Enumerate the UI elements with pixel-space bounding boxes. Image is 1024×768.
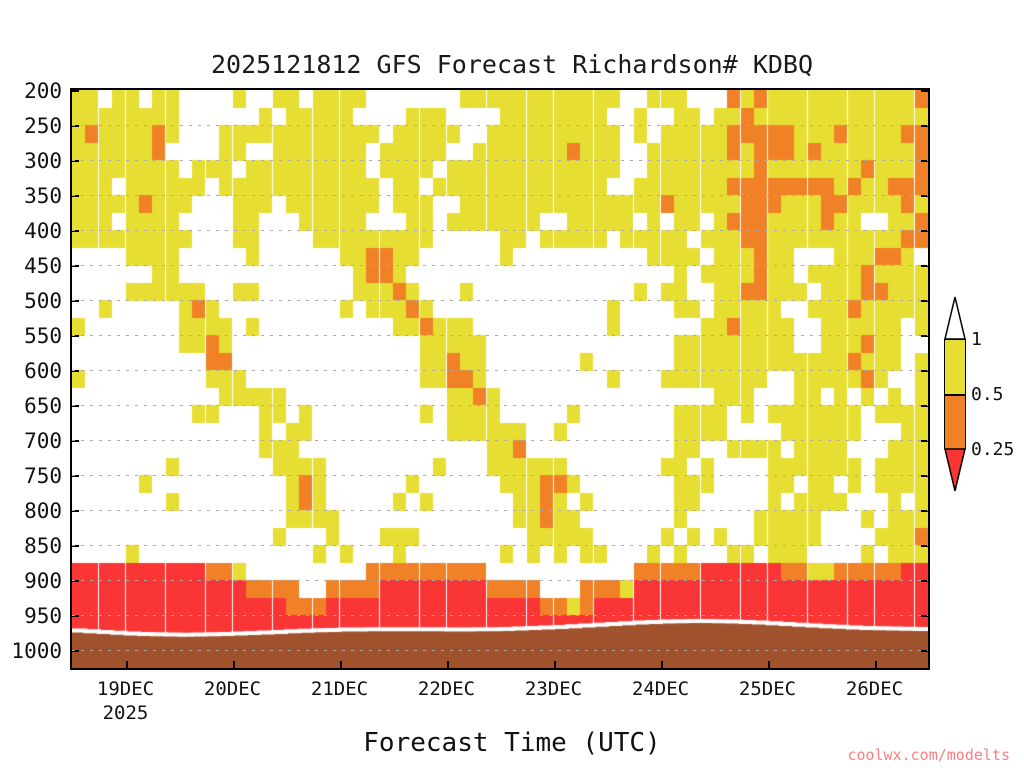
x-tick-label: 25DEC (739, 678, 796, 700)
x-tick-mark (768, 661, 770, 668)
horizontal-gridline (72, 370, 928, 371)
y-tick-label: 350 (0, 184, 62, 208)
horizontal-gridline (72, 300, 928, 301)
y-tick-mark (72, 90, 79, 92)
horizontal-gridline (72, 405, 928, 406)
x-tick-mark (447, 661, 449, 668)
horizontal-gridline (72, 195, 928, 196)
y-tick-label: 750 (0, 464, 62, 488)
y-tick-label: 600 (0, 359, 62, 383)
y-tick-label: 500 (0, 289, 62, 313)
y-tick-label: 850 (0, 534, 62, 558)
colorbar: 10.50.25 (944, 296, 966, 492)
x-tick-label: 19DEC (97, 678, 154, 700)
x-tick-label: 23DEC (525, 678, 582, 700)
x-tick-mark (554, 661, 556, 668)
x-tick-mark (233, 661, 235, 668)
horizontal-gridline (72, 230, 928, 231)
x-tick-mark (126, 661, 128, 668)
horizontal-gridline (72, 615, 928, 616)
horizontal-gridline (72, 265, 928, 266)
x-tick-label: 21DEC (311, 678, 368, 700)
x-tick-label: 22DEC (418, 678, 475, 700)
horizontal-gridline (72, 125, 928, 126)
x-tick-label: 26DEC (846, 678, 903, 700)
y-tick-label: 200 (0, 79, 62, 103)
richardson-number-timeheight-chart: 2025121812 GFS Forecast Richardson# KDBQ… (0, 0, 1024, 768)
y-tick-label: 250 (0, 114, 62, 138)
watermark-link[interactable]: coolwx.com/modelts (847, 746, 1010, 764)
colorbar-arrow-below-icon (944, 448, 966, 492)
y-tick-label: 950 (0, 604, 62, 628)
horizontal-gridline (72, 160, 928, 161)
colorbar-tick-label: 0.5 (971, 384, 1004, 405)
x-tick-label: 20DEC (204, 678, 261, 700)
plot-area (70, 88, 930, 670)
y-tick-label: 700 (0, 429, 62, 453)
horizontal-gridline (72, 440, 928, 441)
y-tick-label: 300 (0, 149, 62, 173)
y-tick-label: 900 (0, 569, 62, 593)
colorbar-arrow-above-icon (944, 296, 966, 340)
y-tick-label: 1000 (0, 639, 62, 663)
x-tick-mark (340, 661, 342, 668)
x-tick-label: 24DEC (632, 678, 689, 700)
horizontal-gridline (72, 475, 928, 476)
y-tick-label: 800 (0, 499, 62, 523)
y-tick-mark (921, 90, 928, 92)
horizontal-gridline (72, 580, 928, 581)
horizontal-gridline (72, 545, 928, 546)
colorbar-body (944, 339, 966, 449)
colorbar-tick-label: 1 (971, 329, 982, 350)
x-axis-year-label: 2025 (103, 702, 149, 724)
y-tick-label: 400 (0, 219, 62, 243)
horizontal-gridline (72, 510, 928, 511)
y-tick-label: 550 (0, 324, 62, 348)
y-tick-label: 650 (0, 394, 62, 418)
x-tick-mark (875, 661, 877, 668)
colorbar-tick-label: 0.25 (971, 439, 1014, 460)
y-tick-label: 450 (0, 254, 62, 278)
horizontal-gridline (72, 335, 928, 336)
horizontal-gridline (72, 650, 928, 651)
x-tick-mark (661, 661, 663, 668)
